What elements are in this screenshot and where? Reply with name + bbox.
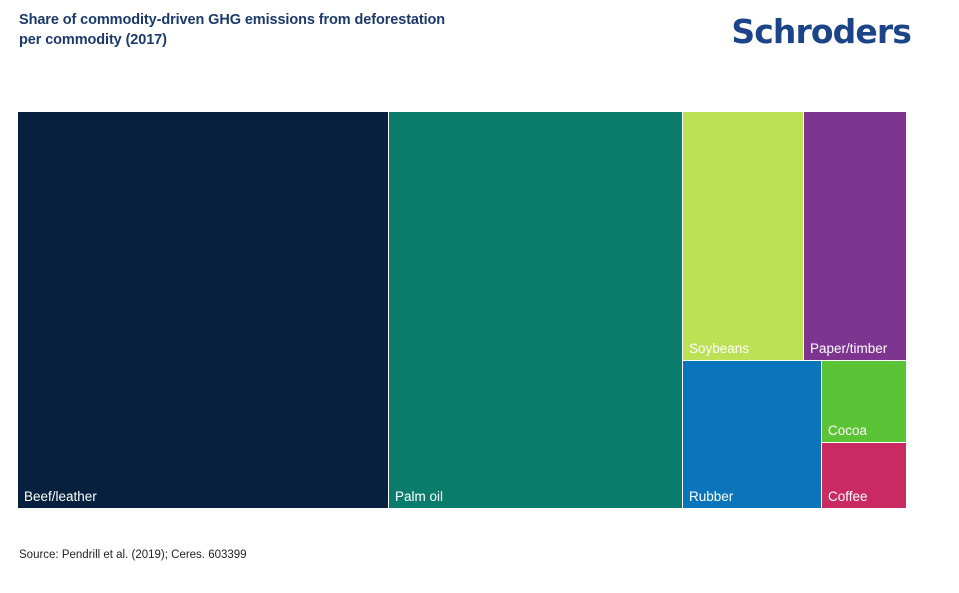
- treemap-tile[interactable]: Paper/timber: [804, 112, 906, 360]
- treemap-tile-label: Cocoa: [828, 422, 867, 439]
- treemap-tile-label: Beef/leather: [24, 488, 97, 505]
- treemap-tile[interactable]: Soybeans: [683, 112, 803, 360]
- treemap-tile-label: Rubber: [689, 488, 733, 505]
- schroders-logo: Schroders: [731, 12, 911, 52]
- treemap-tile[interactable]: Beef/leather: [18, 112, 388, 508]
- chart-header: Share of commodity-driven GHG emissions …: [0, 0, 959, 100]
- treemap-tile-label: Paper/timber: [810, 340, 887, 357]
- treemap-tile-label: Soybeans: [689, 340, 749, 357]
- page-title: Share of commodity-driven GHG emissions …: [19, 10, 639, 50]
- treemap-tile[interactable]: Rubber: [683, 361, 821, 508]
- treemap-tile-label: Palm oil: [395, 488, 443, 505]
- source-note: Source: Pendrill et al. (2019); Ceres. 6…: [19, 548, 247, 563]
- chart-title-line-1: Share of commodity-driven GHG emissions …: [19, 12, 445, 28]
- treemap-tile[interactable]: Cocoa: [822, 361, 906, 442]
- treemap-chart: Beef/leatherPalm oilSoybeansPaper/timber…: [18, 112, 906, 508]
- treemap-tile[interactable]: Palm oil: [389, 112, 682, 508]
- treemap-tile[interactable]: Coffee: [822, 443, 906, 508]
- treemap-tile-label: Coffee: [828, 488, 868, 505]
- chart-title-line-2: per commodity (2017): [19, 30, 639, 50]
